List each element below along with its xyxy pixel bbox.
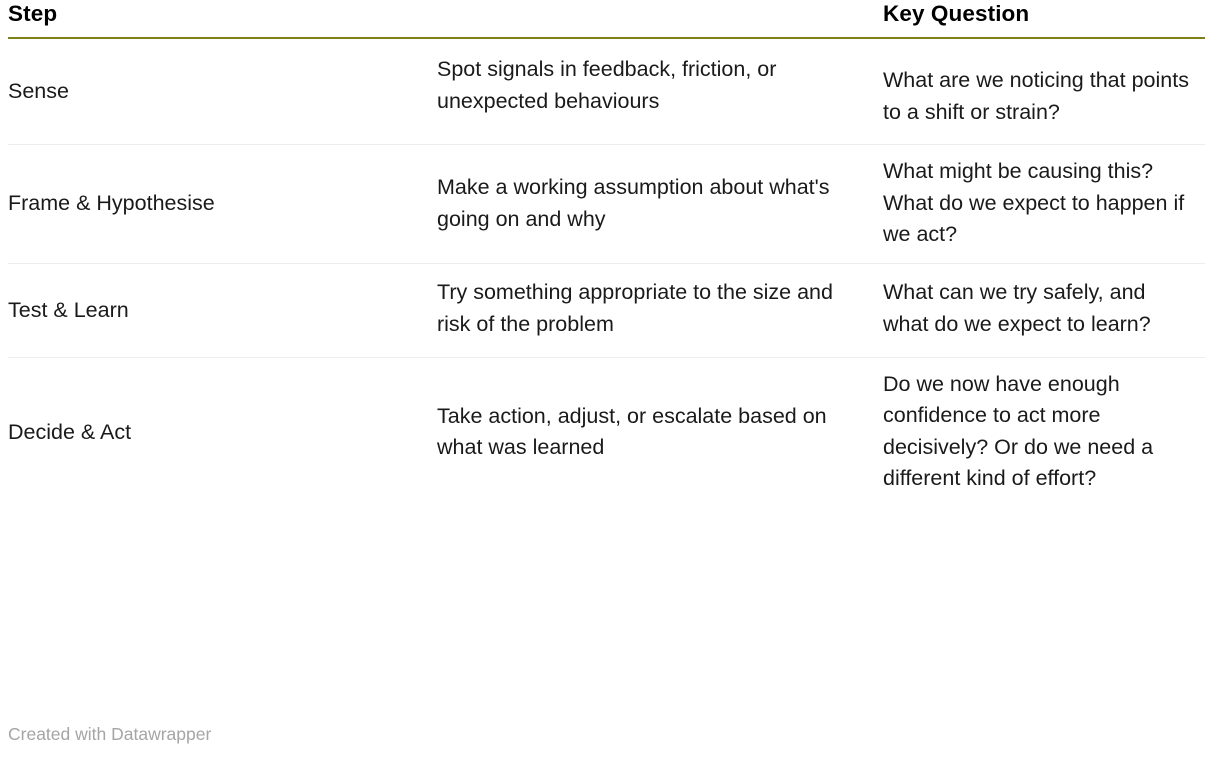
- cell-key-question: Do we now have enough confidence to act …: [883, 357, 1205, 508]
- cell-involves-text: Make a working assumption about what's g…: [437, 172, 861, 235]
- cell-step: Decide & Act: [8, 357, 437, 508]
- cell-key-question-text: What can we try safely, and what do we e…: [883, 277, 1195, 340]
- cell-step: Frame & Hypothesise: [8, 145, 437, 264]
- table-header: Step Involves Key Question: [8, 0, 1205, 38]
- cell-key-question-text: What might be causing this? What do we e…: [883, 156, 1195, 251]
- table-header-row: Step Involves Key Question: [8, 0, 1205, 38]
- cell-involves: Try something appropriate to the size an…: [437, 264, 883, 357]
- table-body: Sense Spot signals in feedback, friction…: [8, 38, 1205, 508]
- cell-step-text: Test & Learn: [8, 295, 421, 327]
- cell-key-question: What can we try safely, and what do we e…: [883, 264, 1205, 357]
- cell-key-question-text: Do we now have enough confidence to act …: [883, 369, 1195, 495]
- cell-involves: Take action, adjust, or escalate based o…: [437, 357, 883, 508]
- cell-step-text: Frame & Hypothesise: [8, 188, 421, 220]
- cell-step-text: Decide & Act: [8, 417, 421, 449]
- table-row: Sense Spot signals in feedback, friction…: [8, 38, 1205, 145]
- table-row: Test & Learn Try something appropriate t…: [8, 264, 1205, 357]
- column-header-step[interactable]: Step: [8, 0, 437, 38]
- datawrapper-credit[interactable]: Created with Datawrapper: [8, 722, 211, 746]
- cell-involves: Spot signals in feedback, friction, or u…: [437, 38, 883, 145]
- cell-involves: Make a working assumption about what's g…: [437, 145, 883, 264]
- column-header-step-label: Step: [8, 0, 57, 27]
- cell-step: Test & Learn: [8, 264, 437, 357]
- cell-key-question: What are we noticing that points to a sh…: [883, 38, 1205, 145]
- column-header-key-question-label: Key Question: [883, 0, 1029, 27]
- column-header-involves[interactable]: Involves: [437, 0, 883, 38]
- cell-involves-text: Try something appropriate to the size an…: [437, 277, 861, 340]
- cell-key-question-text: What are we noticing that points to a sh…: [883, 65, 1195, 128]
- cell-involves-text: Take action, adjust, or escalate based o…: [437, 401, 861, 464]
- table-row: Decide & Act Take action, adjust, or esc…: [8, 357, 1205, 508]
- cell-key-question: What might be causing this? What do we e…: [883, 145, 1205, 264]
- cell-involves-text: Spot signals in feedback, friction, or u…: [437, 54, 861, 117]
- data-table: Step Involves Key Question Sense Spot si…: [8, 0, 1205, 508]
- cell-step: Sense: [8, 38, 437, 145]
- table-row: Frame & Hypothesise Make a working assum…: [8, 145, 1205, 264]
- datawrapper-table-chart: Step Involves Key Question Sense Spot si…: [0, 0, 1220, 758]
- cell-step-text: Sense: [8, 76, 421, 108]
